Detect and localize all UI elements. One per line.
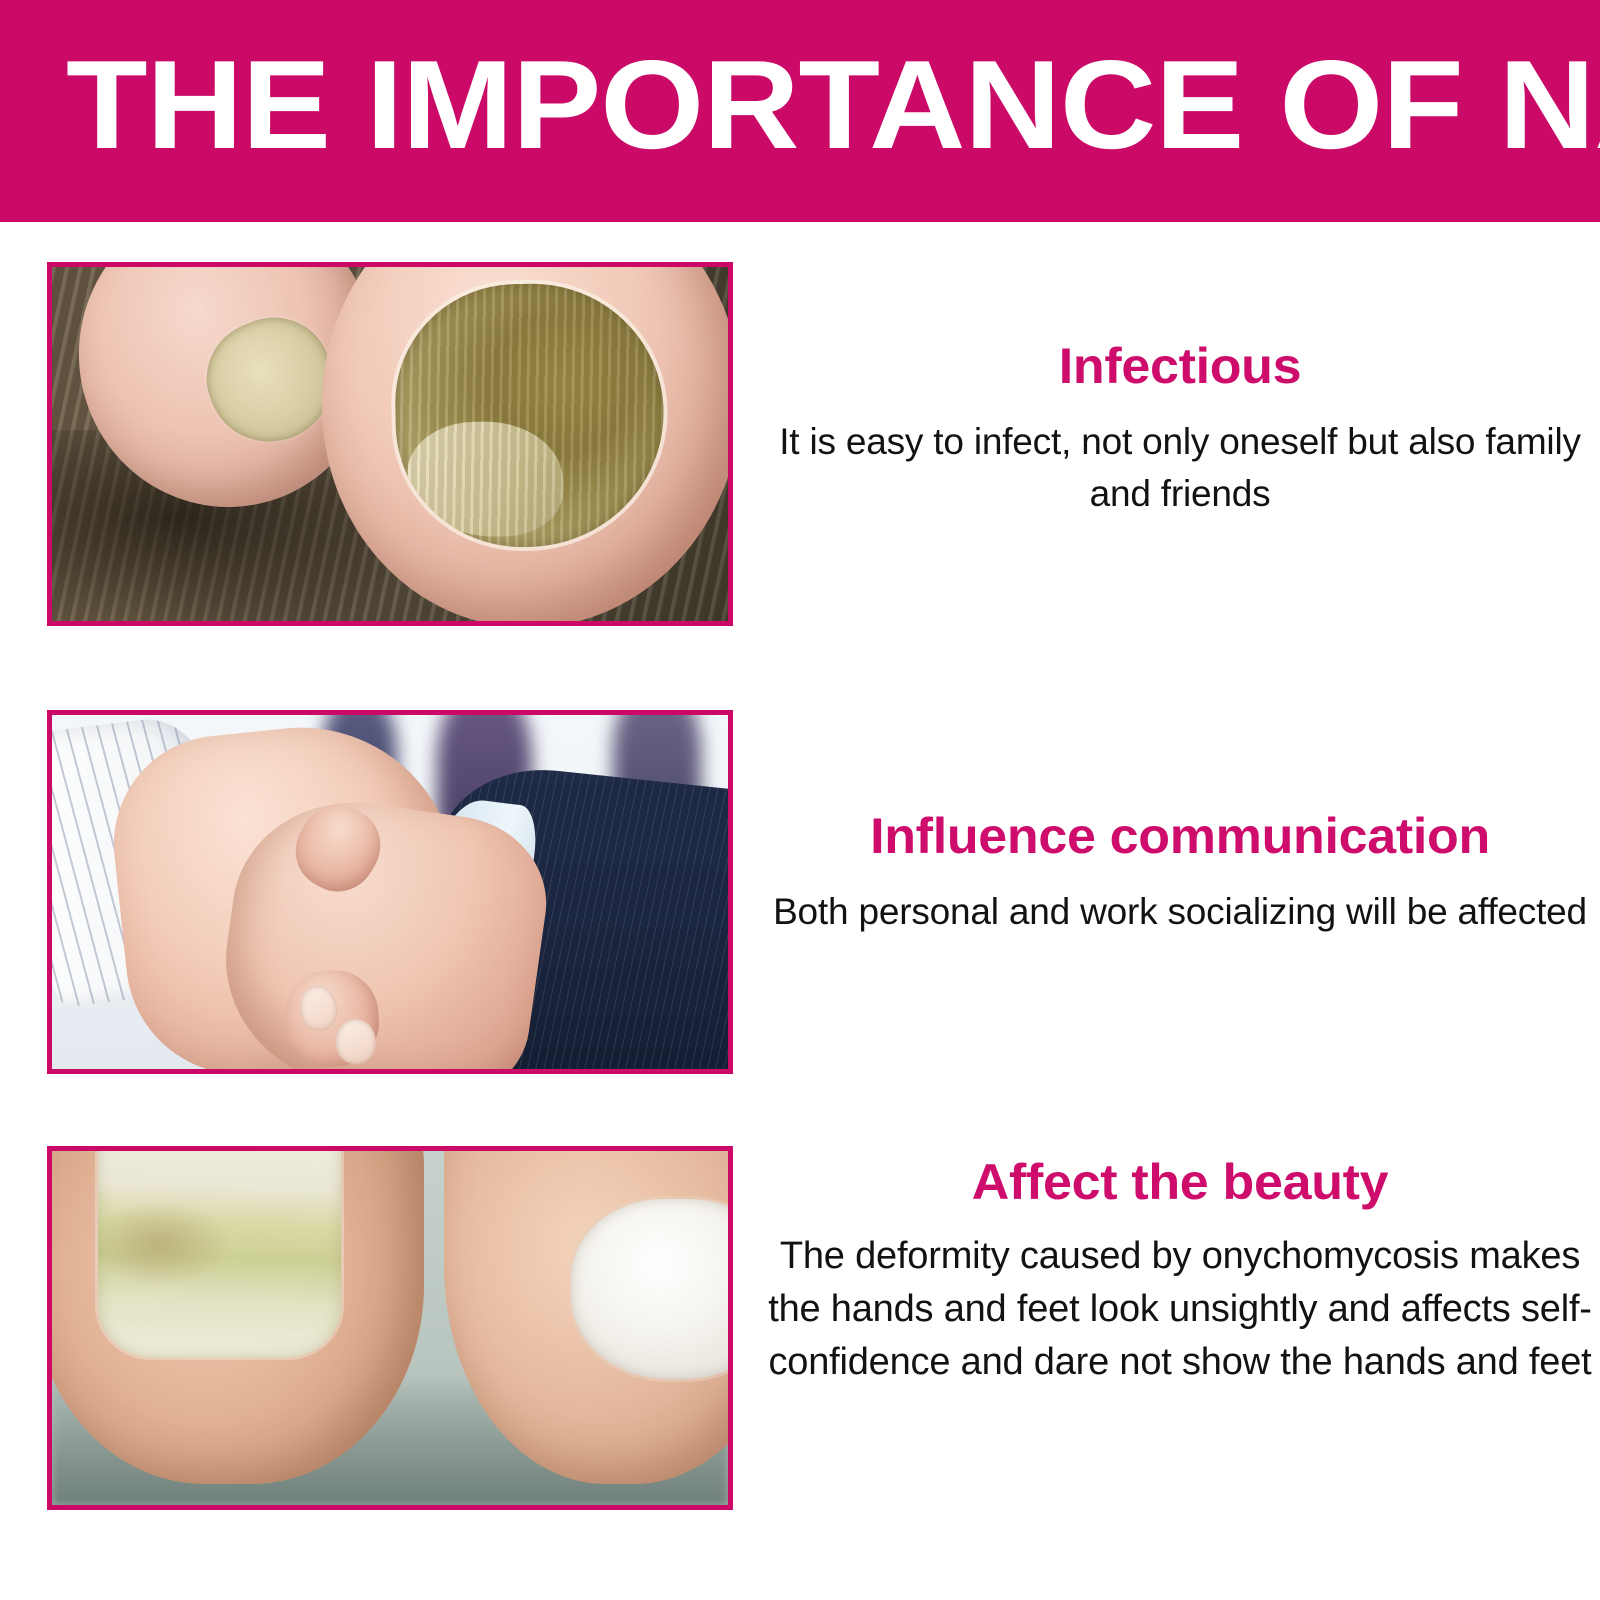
text-block-influence-communication: Influence communication Both personal an… (760, 808, 1600, 938)
section-heading-influence-communication: Influence communication (743, 808, 1600, 864)
header-banner: THE IMPORTANCE OF NAILS (0, 0, 1600, 222)
section-body-influence-communication: Both personal and work socializing will … (760, 886, 1600, 938)
nail-flake-shape (407, 420, 565, 538)
section-row-affect-the-beauty: Affect the beauty The deformity caused b… (0, 1126, 1600, 1556)
page-title: THE IMPORTANCE OF NAILS (66, 40, 1600, 170)
fingernail-shape (336, 1019, 376, 1064)
business-handshake-photo (47, 710, 733, 1074)
section-heading-infectious: Infectious (743, 338, 1600, 394)
close-up-discolored-toenails-photo (47, 1146, 733, 1510)
photo-canvas (52, 715, 728, 1069)
infographic-poster: THE IMPORTANCE OF NAILS (0, 0, 1600, 1600)
section-row-influence-communication: Influence communication Both personal an… (0, 690, 1600, 1120)
text-block-infectious: Infectious It is easy to infect, not onl… (760, 338, 1600, 520)
infected-toenails-photo (47, 262, 733, 626)
section-body-infectious: It is easy to infect, not only oneself b… (760, 416, 1600, 520)
healthy-toenail-shape (571, 1199, 728, 1379)
infected-toenail-shape (394, 281, 667, 548)
discolored-toenail-shape (98, 1151, 341, 1357)
text-block-affect-the-beauty: Affect the beauty The deformity caused b… (760, 1154, 1600, 1389)
section-row-infectious: Infectious It is easy to infect, not onl… (0, 242, 1600, 672)
photo-canvas (52, 1151, 728, 1505)
content-area: Infectious It is easy to infect, not onl… (0, 222, 1600, 1600)
section-heading-affect-the-beauty: Affect the beauty (743, 1154, 1600, 1210)
photo-canvas (52, 267, 728, 621)
section-body-affect-the-beauty: The deformity caused by onychomycosis ma… (760, 1230, 1600, 1389)
